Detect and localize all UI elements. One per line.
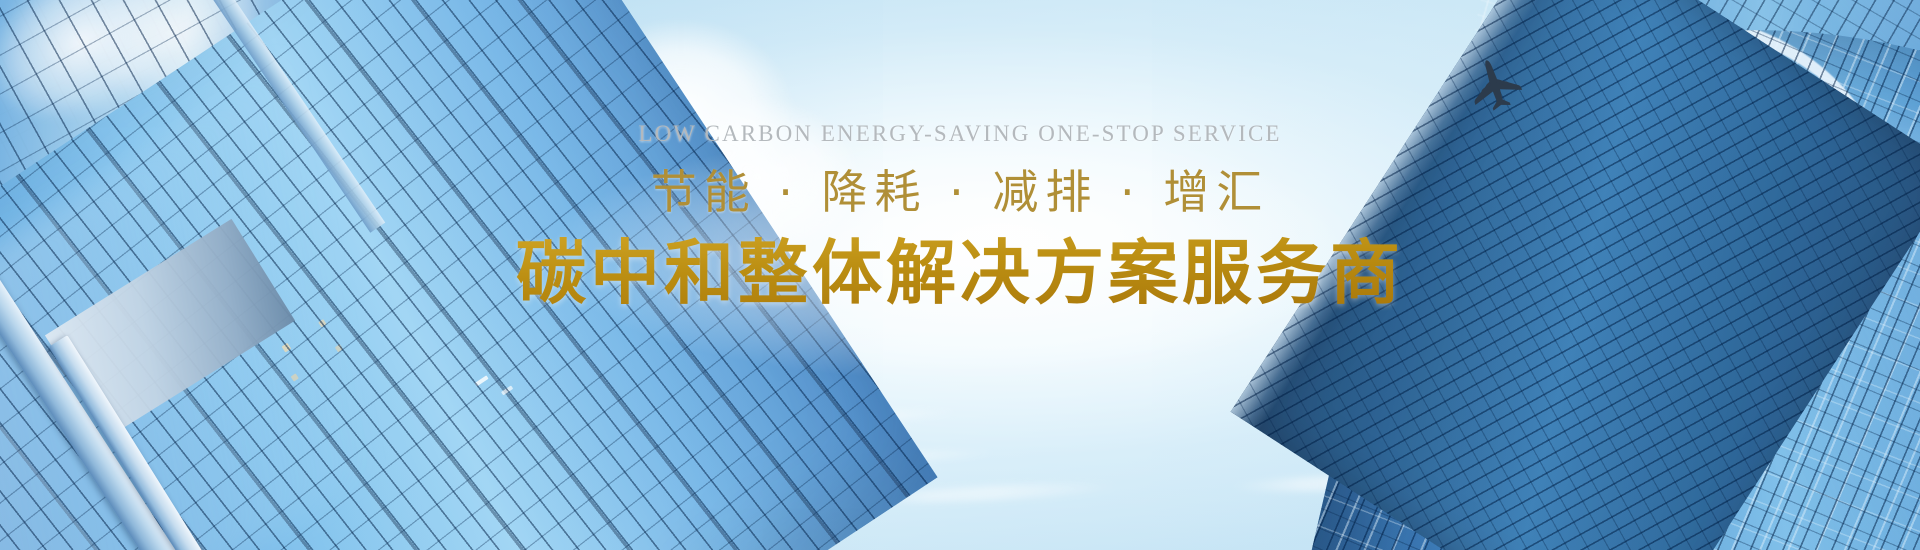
banner-subheadline: 节能 · 降耗 · 减排 · 增汇 — [460, 167, 1460, 218]
hero-banner: LOW CARBON ENERGY-SAVING ONE-STOP SERVIC… — [0, 0, 1920, 550]
banner-copy: LOW CARBON ENERGY-SAVING ONE-STOP SERVIC… — [460, 122, 1460, 312]
banner-eyebrow-text: LOW CARBON ENERGY-SAVING ONE-STOP SERVIC… — [460, 122, 1460, 145]
banner-headline: 碳中和整体解决方案服务商 — [460, 234, 1460, 312]
